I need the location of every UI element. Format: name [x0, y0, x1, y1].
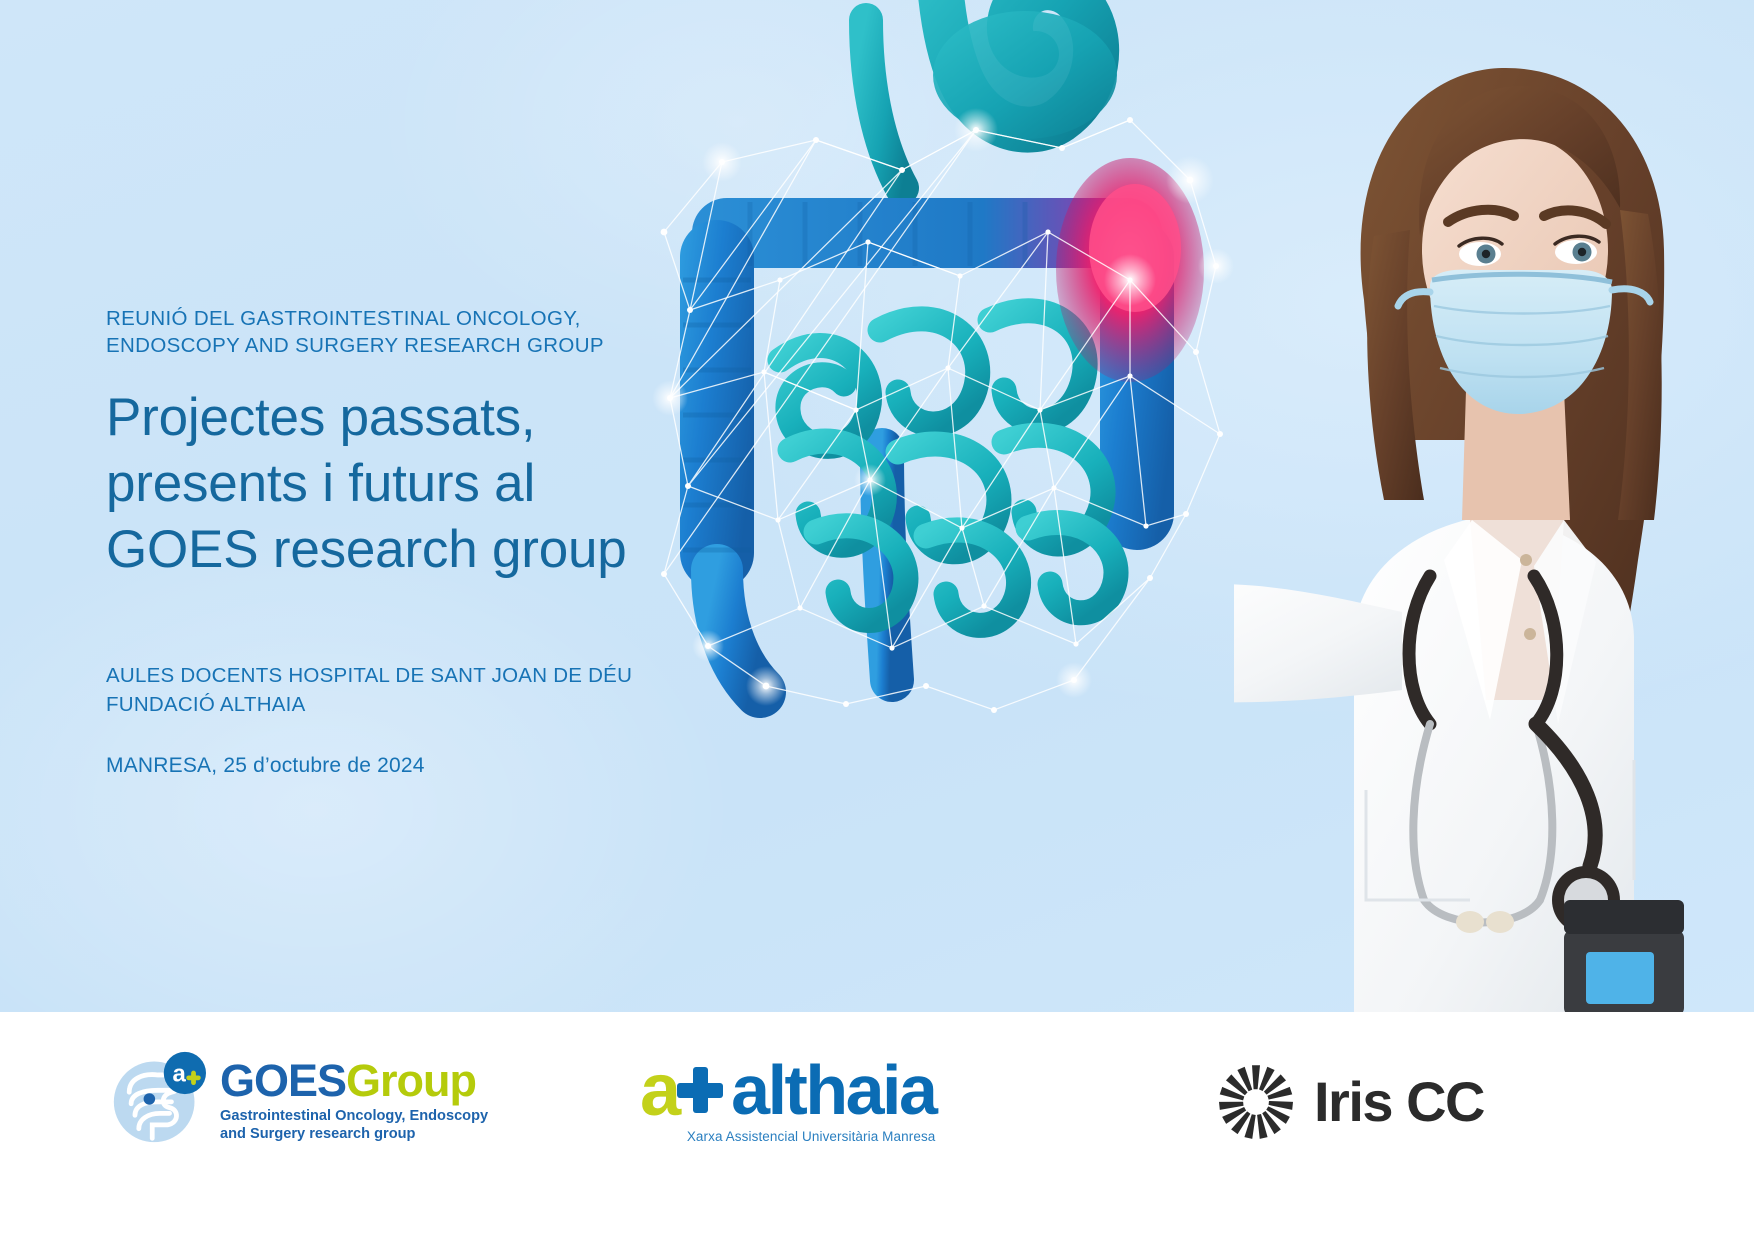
- logo-goes-group: a GOESGroup Gastrointestinal Oncology, E…: [110, 1050, 488, 1146]
- goes-word-primary: GOES: [220, 1055, 346, 1106]
- iris-wordmark: Iris CC: [1314, 1073, 1484, 1131]
- goes-wordmark: GOESGroup: [220, 1057, 488, 1105]
- hero-banner: REUNIÓ DEL GASTROINTESTINAL ONCOLOGY, EN…: [0, 0, 1754, 1012]
- poster-eyebrow: REUNIÓ DEL GASTROINTESTINAL ONCOLOGY, EN…: [106, 305, 746, 359]
- goes-word-secondary: Group: [346, 1055, 476, 1106]
- plus-icon: [677, 1067, 723, 1113]
- althaia-tagline: Xarxa Assistencial Universitària Manresa: [640, 1129, 935, 1144]
- goes-intestine-icon: a: [110, 1050, 206, 1146]
- althaia-a-mark: a: [640, 1055, 679, 1125]
- althaia-wordmark: althaia: [731, 1055, 935, 1125]
- poster-text-block: REUNIÓ DEL GASTROINTESTINAL ONCOLOGY, EN…: [106, 305, 746, 779]
- event-poster: REUNIÓ DEL GASTROINTESTINAL ONCOLOGY, EN…: [0, 0, 1754, 1241]
- goes-tagline: Gastrointestinal Oncology, Endoscopy and…: [220, 1107, 488, 1143]
- poster-venue: AULES DOCENTS HOSPITAL DE SANT JOAN DE D…: [106, 661, 746, 719]
- page-title: Projectes passats, presents i futurs al …: [106, 385, 746, 583]
- doctor-photo: [1234, 0, 1754, 1012]
- althaia-wordmark-row: a althaia: [640, 1055, 935, 1125]
- svg-text:a: a: [172, 1061, 186, 1088]
- iris-starburst-icon: [1216, 1062, 1296, 1142]
- logo-iris-cc: Iris CC: [1216, 1062, 1484, 1142]
- logo-althaia: a althaia Xarxa Assistencial Universitàr…: [640, 1055, 935, 1144]
- poster-date: MANRESA, 25 d’octubre de 2024: [106, 752, 746, 779]
